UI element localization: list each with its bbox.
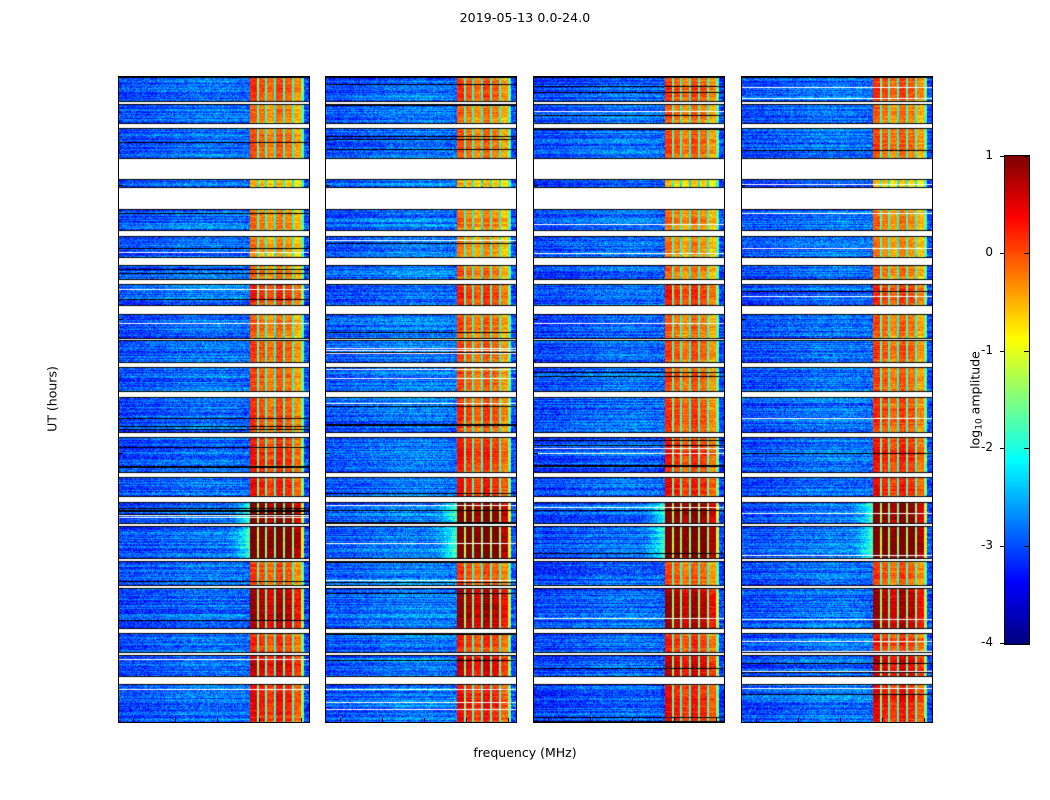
- x-tick-mark: [217, 718, 218, 722]
- y-tick-mark: [742, 185, 746, 186]
- x-tick-mark: [508, 718, 509, 722]
- y-tick-mark: [119, 185, 123, 186]
- x-tick-mark: [301, 718, 302, 722]
- x-tick-mark: [382, 718, 383, 722]
- y-tick-mark: [119, 453, 123, 454]
- panel-yx: YX, V3*V6=EA01*EA19 320335350365380: [741, 76, 933, 723]
- colorbar-tick-label: -3: [959, 538, 993, 552]
- colorbar-label-sub: 10: [975, 418, 985, 429]
- figure-title: 2019-05-13 0.0-24.0: [0, 10, 1050, 25]
- panel-xy: XY, V3*V6=EA01*EA19 320335350365380: [533, 76, 725, 723]
- colorbar-tick-label: 1: [959, 148, 993, 162]
- y-tick-mark: [326, 588, 330, 589]
- y-tick-mark: [742, 722, 746, 723]
- colorbar-tick-label: -4: [959, 635, 993, 649]
- x-tick-mark: [674, 718, 675, 722]
- panel-yy: YY, V3*V6=EA01*EA19 320335350365380: [325, 76, 517, 723]
- y-tick-mark: [534, 453, 538, 454]
- y-tick-mark: [119, 722, 123, 723]
- colorbar-tick-mark: [1000, 546, 1005, 547]
- y-tick-mark: [742, 453, 746, 454]
- colorbar-tick-mark: [1000, 253, 1005, 254]
- x-tick-mark: [716, 718, 717, 722]
- colorbar-tick-label: 0: [959, 245, 993, 259]
- x-axis-label: frequency (MHz): [0, 745, 1050, 760]
- y-tick-mark: [534, 588, 538, 589]
- colorbar-tick-mark-inner: [1024, 546, 1029, 547]
- heatmap-xy: [534, 77, 724, 722]
- x-tick-mark: [133, 718, 134, 722]
- colorbar: -4-3-2-101: [1004, 155, 1030, 645]
- colorbar-tick-mark: [1000, 643, 1005, 644]
- y-tick-mark: [534, 319, 538, 320]
- colorbar-tick-mark-inner: [1024, 156, 1029, 157]
- y-tick-mark: [534, 185, 538, 186]
- y-tick-mark: [326, 453, 330, 454]
- heatmap-yy: [326, 77, 516, 722]
- colorbar-tick-mark: [1000, 156, 1005, 157]
- colorbar-tick-mark: [1000, 448, 1005, 449]
- colorbar-tick-mark-inner: [1024, 448, 1029, 449]
- colorbar-label: log10 amplitude: [968, 351, 983, 449]
- x-tick-mark: [424, 718, 425, 722]
- colorbar-tick-mark-inner: [1024, 253, 1029, 254]
- x-tick-mark: [882, 718, 883, 722]
- colorbar-label-tail: amplitude: [968, 351, 983, 418]
- x-tick-mark: [175, 718, 176, 722]
- y-axis-label: UT (hours): [45, 366, 60, 432]
- y-tick-mark: [119, 588, 123, 589]
- y-tick-mark: [534, 722, 538, 723]
- y-tick-mark: [119, 319, 123, 320]
- colorbar-tick-mark-inner: [1024, 351, 1029, 352]
- colorbar-tick-mark: [1000, 351, 1005, 352]
- x-tick-mark: [632, 718, 633, 722]
- x-tick-mark: [466, 718, 467, 722]
- x-tick-mark: [924, 718, 925, 722]
- x-tick-mark: [798, 718, 799, 722]
- y-tick-mark: [326, 185, 330, 186]
- y-tick-mark: [326, 722, 330, 723]
- x-tick-mark: [259, 718, 260, 722]
- colorbar-label-text: log: [968, 430, 983, 449]
- y-tick-mark: [742, 319, 746, 320]
- colorbar-gradient: [1005, 156, 1029, 644]
- x-tick-mark: [548, 718, 549, 722]
- x-tick-mark: [756, 718, 757, 722]
- x-tick-mark: [340, 718, 341, 722]
- colorbar-tick-mark-inner: [1024, 643, 1029, 644]
- y-tick-mark: [326, 319, 330, 320]
- y-tick-mark: [742, 588, 746, 589]
- panel-xx: XX, V3*V6=EA01*EA19 32033535036538005101…: [118, 76, 310, 723]
- heatmap-xx: [119, 77, 309, 722]
- x-tick-mark: [840, 718, 841, 722]
- heatmap-yx: [742, 77, 932, 722]
- x-tick-mark: [590, 718, 591, 722]
